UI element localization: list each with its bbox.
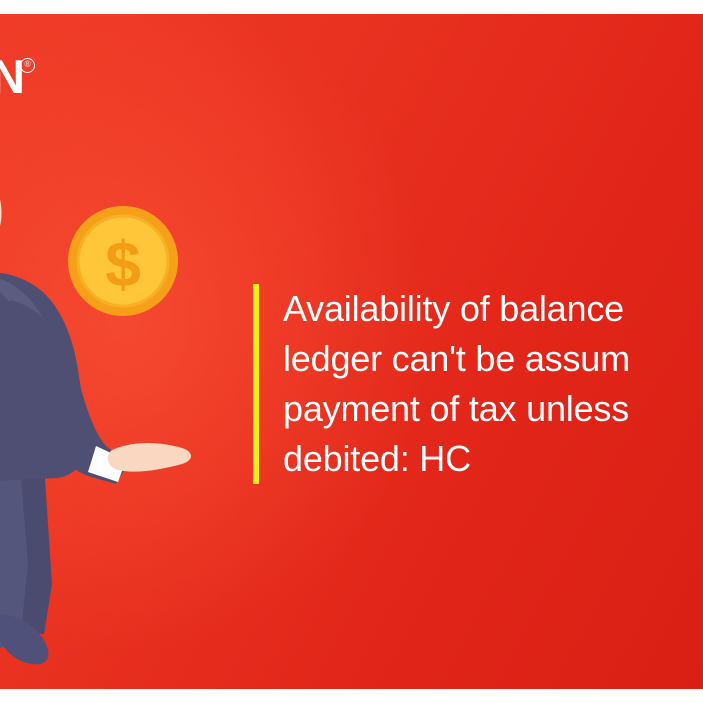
yellow-accent-bar <box>253 284 259 484</box>
poster-canvas: NN ® DIA <box>0 0 703 703</box>
headline-line-1: Availability of balance <box>283 284 630 334</box>
registered-trademark-icon: ® <box>20 58 35 73</box>
red-promo-banner: NN ® DIA <box>0 14 703 689</box>
businessman-svg: $ <box>0 164 208 684</box>
businessman-holding-coin-illustration: $ <box>0 164 208 684</box>
headline-line-4: debited: HC <box>283 434 630 484</box>
brand-logo[interactable]: NN ® DIA <box>0 52 54 130</box>
brand-wordmark: NN <box>0 52 24 102</box>
hand-shape <box>108 443 191 472</box>
gold-coin-icon: $ <box>68 206 178 316</box>
headline-line-2: ledger can't be assum <box>283 334 630 384</box>
headline-block: Availability of balance ledger can't be … <box>253 284 703 484</box>
headline-text: Availability of balance ledger can't be … <box>283 284 630 484</box>
headline-line-3: payment of tax unless <box>283 384 630 434</box>
coin-dollar-symbol: $ <box>105 228 141 300</box>
